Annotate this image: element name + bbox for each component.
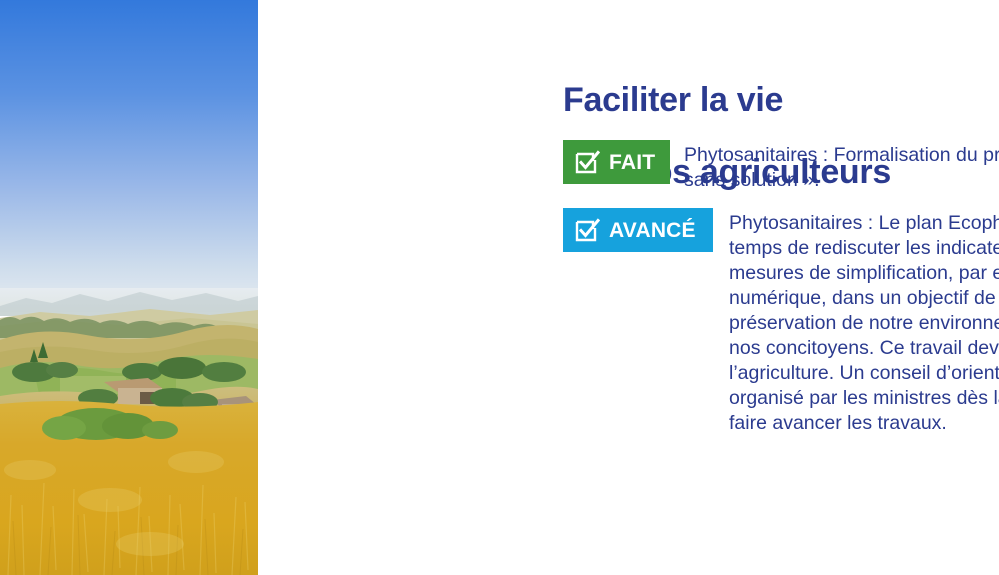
- entry-fait-text: Phytosanitaires : Formalisation du princ…: [684, 140, 999, 193]
- countryside-photo: [0, 0, 258, 575]
- content-panel: Faciliter la vie de nos agriculteurs FAI…: [258, 0, 999, 575]
- status-badge-fait-label: FAIT: [609, 152, 655, 173]
- entry-avance-text: Phytosanitaires : Le plan Ecophyto est m…: [729, 208, 999, 436]
- checkbox-checked-icon: [574, 149, 600, 175]
- status-badge-fait: FAIT: [563, 140, 670, 184]
- entry-fait: FAIT Phytosanitaires : Formalisation du …: [563, 140, 999, 193]
- status-badge-avance: AVANCÉ: [563, 208, 713, 252]
- status-badge-avance-label: AVANCÉ: [609, 220, 696, 241]
- entry-avance: AVANCÉ Phytosanitaires : Le plan Ecophyt…: [563, 208, 999, 436]
- slide-root: Faciliter la vie de nos agriculteurs FAI…: [0, 0, 999, 575]
- page-title: Faciliter la vie de nos agriculteurs: [563, 46, 999, 226]
- checkbox-checked-icon: [574, 217, 600, 243]
- page-title-line-1: Faciliter la vie: [563, 82, 999, 118]
- countryside-photo-illustration: [0, 0, 258, 575]
